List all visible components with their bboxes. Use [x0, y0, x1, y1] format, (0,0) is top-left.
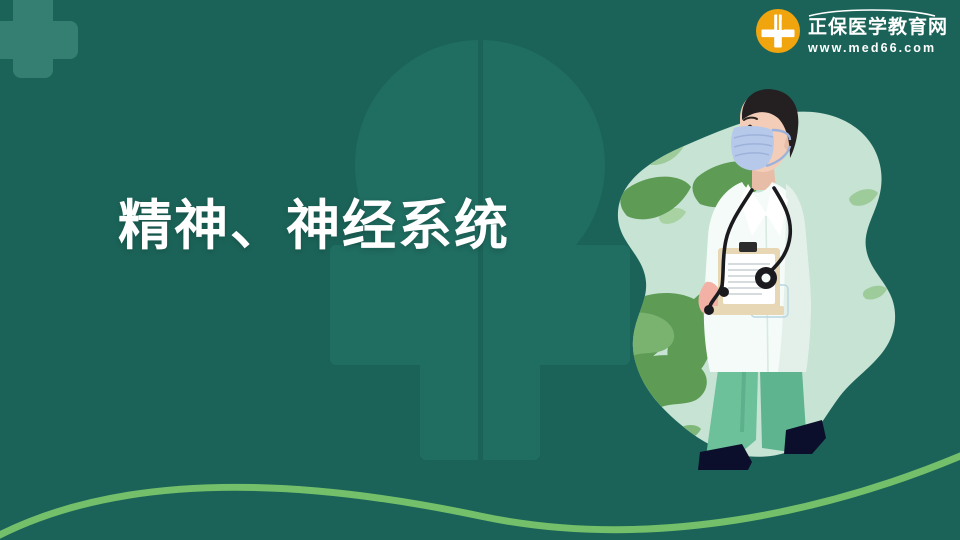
page-title: 精神、神经系统 — [118, 196, 510, 256]
med66-cross-circle-logo-icon — [755, 8, 801, 54]
logo-text-block: 正保医学教育网 www.med66.com — [808, 8, 948, 55]
title-block: 精神、神经系统 — [118, 196, 510, 256]
logo-arc-decoration — [808, 8, 936, 17]
bottom-curve-wave — [0, 0, 960, 540]
logo-brand-name: 正保医学教育网 — [808, 18, 948, 37]
brand-logo[interactable]: 正保医学教育网 www.med66.com — [755, 8, 948, 55]
logo-website-url: www.med66.com — [808, 42, 936, 55]
presentation-slide: 精神、神经系统 正保医学教育网 www.med66.com — [0, 0, 960, 540]
